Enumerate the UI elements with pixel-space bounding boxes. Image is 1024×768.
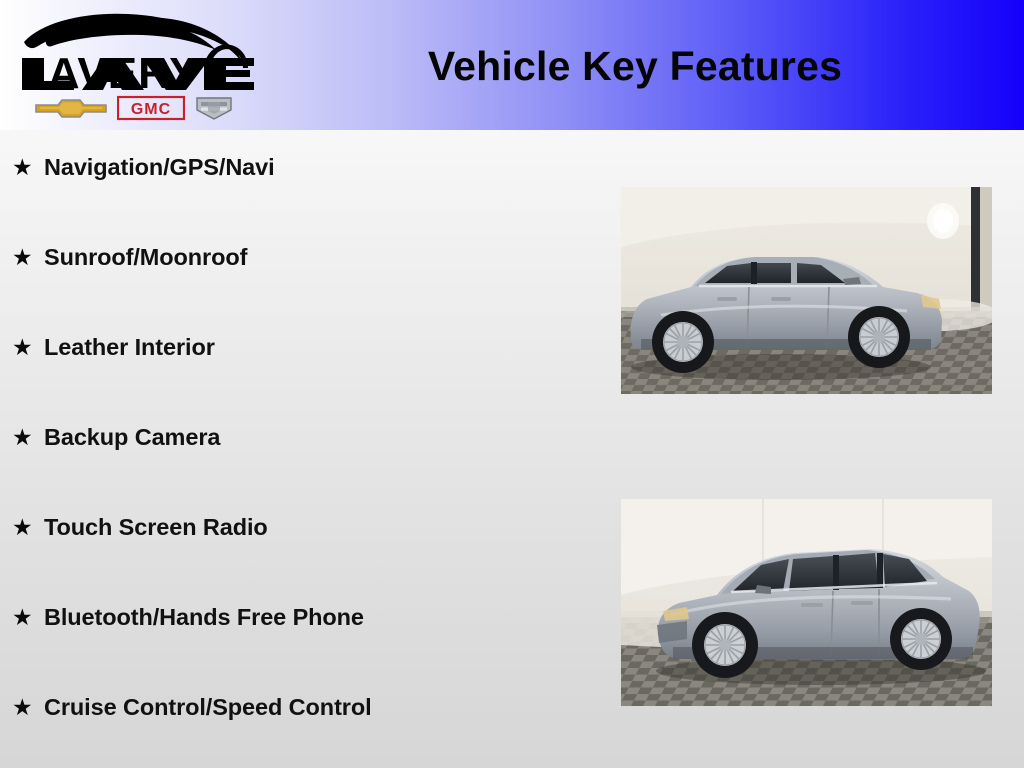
feature-label: Bluetooth/Hands Free Phone xyxy=(44,602,364,632)
cadillac-badge-icon xyxy=(194,95,234,121)
chevrolet-badge-icon xyxy=(34,96,108,120)
brand-badges-row: GMC xyxy=(34,94,249,122)
star-bullet-icon: ★ xyxy=(12,602,44,632)
feature-label: Sunroof/Moonroof xyxy=(44,242,247,272)
star-bullet-icon: ★ xyxy=(12,692,44,722)
vehicle-photo-front-three-quarter xyxy=(621,499,992,706)
dealer-logo: LAVERY GMC xyxy=(12,6,257,124)
star-bullet-icon: ★ xyxy=(12,422,44,452)
list-item: ★ Navigation/GPS/Navi xyxy=(0,152,610,242)
star-bullet-icon: ★ xyxy=(12,242,44,272)
gmc-badge-icon: GMC xyxy=(117,95,185,121)
star-bullet-icon: ★ xyxy=(12,512,44,542)
lavery-wordmark-text: LAVERY xyxy=(20,49,200,92)
list-item: ★ Leather Interior xyxy=(0,332,610,422)
star-bullet-icon: ★ xyxy=(12,332,44,362)
feature-label: Backup Camera xyxy=(44,422,220,452)
presentation-slide: LAVERY GMC Vehicle Key Features xyxy=(0,0,1024,768)
feature-label: Leather Interior xyxy=(44,332,215,362)
svg-text:GMC: GMC xyxy=(131,101,171,118)
lavery-wordmark-overlay: LAVERY xyxy=(12,6,257,92)
feature-label: Touch Screen Radio xyxy=(44,512,268,542)
feature-label: Navigation/GPS/Navi xyxy=(44,152,275,182)
list-item: ★ Touch Screen Radio xyxy=(0,512,610,602)
feature-label: Cruise Control/Speed Control xyxy=(44,692,372,722)
vehicle-photo-side-profile xyxy=(621,187,992,394)
list-item: ★ Bluetooth/Hands Free Phone xyxy=(0,602,610,692)
page-title: Vehicle Key Features xyxy=(260,38,1010,94)
star-bullet-icon: ★ xyxy=(12,152,44,182)
list-item: ★ Sunroof/Moonroof xyxy=(0,242,610,332)
feature-list: ★ Navigation/GPS/Navi ★ Sunroof/Moonroof… xyxy=(0,152,610,768)
list-item: ★ Cruise Control/Speed Control xyxy=(0,692,610,768)
list-item: ★ Backup Camera xyxy=(0,422,610,512)
